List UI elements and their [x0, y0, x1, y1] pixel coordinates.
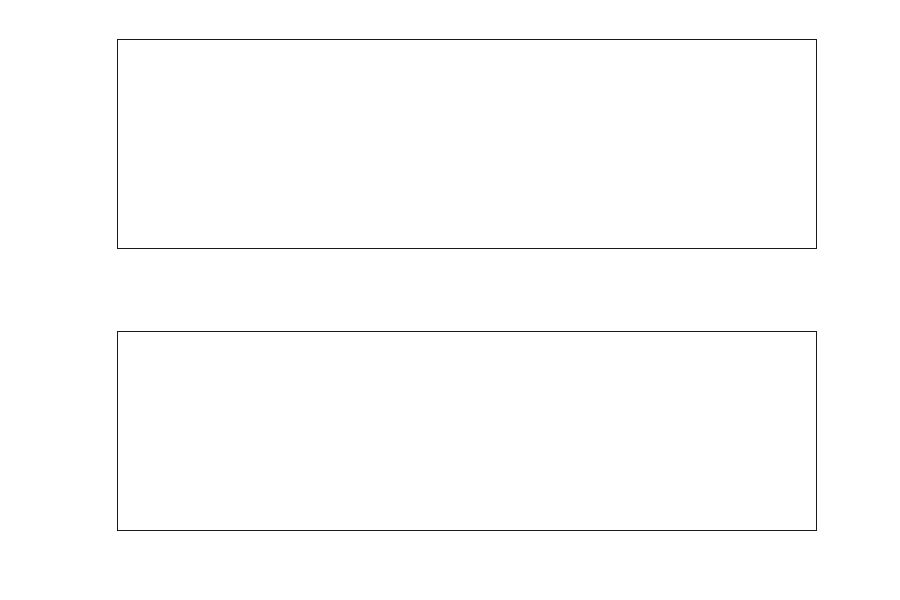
current-speed-plot-area: [117, 39, 817, 249]
tidal-height-line-chart: [118, 332, 817, 531]
current-speed-line-chart: [118, 40, 817, 249]
tidal-height-plot-area: [117, 331, 817, 531]
figure-canvas: [0, 0, 900, 600]
figure-suptitle-container: [0, 296, 900, 328]
